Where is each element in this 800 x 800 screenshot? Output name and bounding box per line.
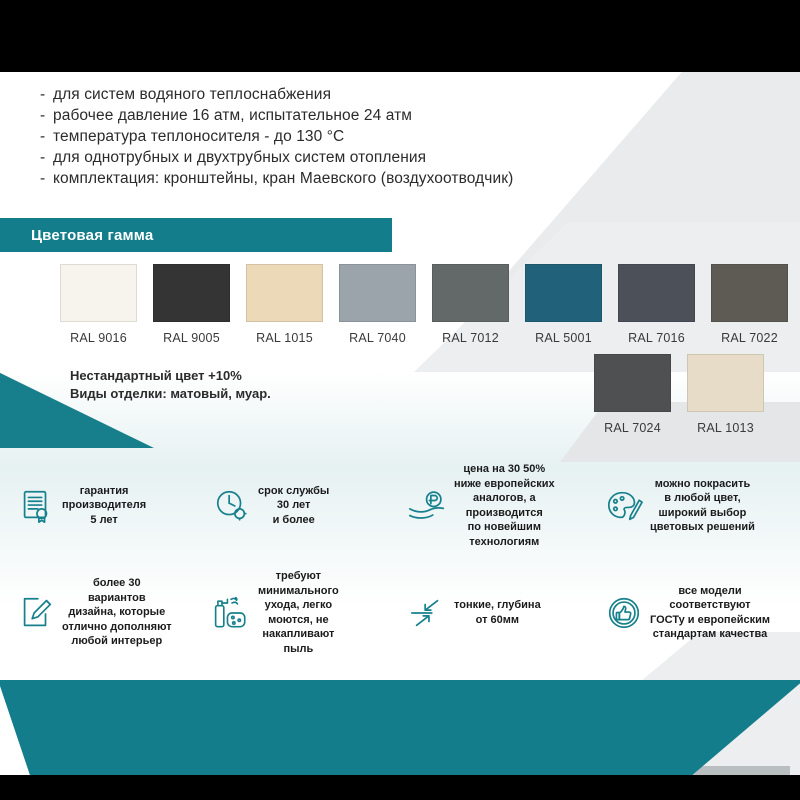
note-line-finish-types: Виды отделки: матовый, муар. xyxy=(70,385,271,403)
swatch-row-secondary: RAL 7024RAL 1013 xyxy=(594,354,764,435)
swatch-row-primary: RAL 9016RAL 9005RAL 1015RAL 7040RAL 7012… xyxy=(60,264,788,345)
spec-bullet-list: -для систем водяного теплоснабжения-рабо… xyxy=(40,84,640,189)
color-swatch[interactable]: RAL 9016 xyxy=(60,264,137,345)
slide-canvas: -для систем водяного теплоснабжения-рабо… xyxy=(0,72,800,775)
feature-text-line: производится xyxy=(454,506,555,521)
color-swatch-label: RAL 7024 xyxy=(594,421,671,435)
color-swatch-chip[interactable] xyxy=(711,264,788,322)
spec-bullet-item: -для систем водяного теплоснабжения xyxy=(40,84,640,105)
color-swatch-label: RAL 7022 xyxy=(711,331,788,345)
color-swatch-chip[interactable] xyxy=(687,354,764,412)
feature-text-line: 30 лет xyxy=(258,498,329,513)
feature-text: все моделисоответствуютГОСТу и европейск… xyxy=(646,584,770,642)
color-swatch-chip[interactable] xyxy=(153,264,230,322)
feature-text-line: по новейшим xyxy=(454,520,555,535)
feature-text-line: 5 лет xyxy=(62,513,146,528)
color-swatch[interactable]: RAL 7016 xyxy=(618,264,695,345)
color-range-banner: Цветовая гамма xyxy=(0,218,392,252)
certificate-icon xyxy=(14,484,58,528)
feature-text: можно покраситьв любой цвет,широкий выбо… xyxy=(646,477,755,535)
feature-text-line: технологиям xyxy=(454,535,555,550)
spec-bullet-text: комплектация: кронштейны, кран Маевского… xyxy=(53,168,513,189)
pencil-design-icon xyxy=(14,591,58,635)
color-swatch[interactable]: RAL 1015 xyxy=(246,264,323,345)
feature-text-line: моются, не xyxy=(258,613,339,628)
color-swatch-chip[interactable] xyxy=(339,264,416,322)
feature-text: цена на 30 50%ниже европейскиханалогов, … xyxy=(450,462,555,549)
color-swatch-label: RAL 1013 xyxy=(687,421,764,435)
feature-item: срок службы30 лети более xyxy=(210,462,406,549)
color-swatch-chip[interactable] xyxy=(618,264,695,322)
feature-text-line: отлично дополняют xyxy=(62,620,172,635)
feature-text-line: срок службы xyxy=(258,484,329,499)
feature-text-line: минимального xyxy=(258,584,339,599)
feature-text: гарантияпроизводителя5 лет xyxy=(58,484,146,528)
feature-text-line: накапливают xyxy=(258,627,339,642)
color-swatch[interactable]: RAL 7040 xyxy=(339,264,416,345)
banner-title: Цветовая гамма xyxy=(31,227,153,244)
feature-item: более 30вариантовдизайна, которыеотлично… xyxy=(14,569,210,656)
feature-text-line: производителя xyxy=(62,498,146,513)
feature-text-line: любой интерьер xyxy=(62,634,172,649)
feature-text-line: тонкие, глубина xyxy=(454,598,541,613)
spec-bullet-text: для однотрубных и двухтрубных систем ото… xyxy=(53,147,426,168)
spec-bullet-text: температура теплоносителя - до 130 °C xyxy=(53,126,344,147)
color-swatch-label: RAL 1015 xyxy=(246,331,323,345)
spec-bullet-item: -комплектация: кронштейны, кран Маевског… xyxy=(40,168,640,189)
feature-item: тонкие, глубинаот 60мм xyxy=(406,569,602,656)
feature-text-line: требуют xyxy=(258,569,339,584)
feature-text: требуютминимальногоухода, легкомоются, н… xyxy=(254,569,339,656)
feature-text-line: от 60мм xyxy=(454,613,541,628)
color-swatch[interactable]: RAL 1013 xyxy=(687,354,764,435)
spec-bullet-text: для систем водяного теплоснабжения xyxy=(53,84,331,105)
depth-arrows-icon xyxy=(406,591,450,635)
color-swatch-chip[interactable] xyxy=(525,264,602,322)
feature-text: срок службы30 лети более xyxy=(254,484,329,528)
color-swatch-chip[interactable] xyxy=(594,354,671,412)
thumbs-up-badge-icon xyxy=(602,591,646,635)
spec-bullet-text: рабочее давление 16 атм, испытательное 2… xyxy=(53,105,412,126)
features-row-1: гарантияпроизводителя5 летсрок службы30 … xyxy=(14,462,800,549)
feature-text-line: все модели xyxy=(650,584,770,599)
feature-text: более 30вариантовдизайна, которыеотлично… xyxy=(58,576,172,649)
spray-sponge-icon xyxy=(210,591,254,635)
feature-text-line: ниже европейских xyxy=(454,477,555,492)
feature-item: требуютминимальногоухода, легкомоются, н… xyxy=(210,569,406,656)
feature-text-line: гарантия xyxy=(62,484,146,499)
spec-bullet-item: -рабочее давление 16 атм, испытательное … xyxy=(40,105,640,126)
bullet-dash-icon: - xyxy=(40,84,53,105)
feature-text-line: вариантов xyxy=(62,591,172,606)
feature-text-line: в любой цвет, xyxy=(650,491,755,506)
feature-item: гарантияпроизводителя5 лет xyxy=(14,462,210,549)
feature-text-line: стандартам качества xyxy=(650,627,770,642)
letterbox-bottom xyxy=(0,775,800,800)
spec-bullet-item: -для однотрубных и двухтрубных систем от… xyxy=(40,147,640,168)
letterbox-top xyxy=(0,0,800,72)
features-section: гарантияпроизводителя5 летсрок службы30 … xyxy=(0,462,800,656)
color-swatch-label: RAL 9005 xyxy=(153,331,230,345)
color-swatch-label: RAL 7040 xyxy=(339,331,416,345)
spec-bullet-item: -температура теплоносителя - до 130 °C xyxy=(40,126,640,147)
note-line-custom-color: Нестандартный цвет +10% xyxy=(70,367,271,385)
feature-text-line: можно покрасить xyxy=(650,477,755,492)
color-swatch[interactable]: RAL 7024 xyxy=(594,354,671,435)
feature-text-line: широкий выбор xyxy=(650,506,755,521)
feature-text-line: цветовых решений xyxy=(650,520,755,535)
bullet-dash-icon: - xyxy=(40,168,53,189)
color-note: Нестандартный цвет +10% Виды отделки: ма… xyxy=(70,367,271,403)
palette-icon xyxy=(602,484,646,528)
bullet-dash-icon: - xyxy=(40,105,53,126)
feature-text-line: ухода, легко xyxy=(258,598,339,613)
feature-text-line: ГОСТу и европейским xyxy=(650,613,770,628)
color-swatch[interactable]: RAL 5001 xyxy=(525,264,602,345)
bullet-dash-icon: - xyxy=(40,147,53,168)
clock-gear-icon xyxy=(210,484,254,528)
color-swatch-label: RAL 7016 xyxy=(618,331,695,345)
color-swatch-chip[interactable] xyxy=(60,264,137,322)
feature-text-line: более 30 xyxy=(62,576,172,591)
feature-text-line: цена на 30 50% xyxy=(454,462,555,477)
color-swatch-label: RAL 7012 xyxy=(432,331,509,345)
color-swatch[interactable]: RAL 9005 xyxy=(153,264,230,345)
feature-item: можно покраситьв любой цвет,широкий выбо… xyxy=(602,462,798,549)
features-row-2: более 30вариантовдизайна, которыеотлично… xyxy=(14,569,800,656)
color-swatch-chip[interactable] xyxy=(432,264,509,322)
feature-text: тонкие, глубинаот 60мм xyxy=(450,598,541,627)
feature-text-line: пыль xyxy=(258,642,339,657)
feature-item: все моделисоответствуютГОСТу и европейск… xyxy=(602,569,798,656)
color-swatch[interactable]: RAL 7022 xyxy=(711,264,788,345)
feature-text-line: и более xyxy=(258,513,329,528)
feature-text-line: аналогов, а xyxy=(454,491,555,506)
color-swatch[interactable]: RAL 7012 xyxy=(432,264,509,345)
feature-text-line: соответствуют xyxy=(650,598,770,613)
color-swatch-chip[interactable] xyxy=(246,264,323,322)
bullet-dash-icon: - xyxy=(40,126,53,147)
color-swatch-label: RAL 9016 xyxy=(60,331,137,345)
feature-text-line: дизайна, которые xyxy=(62,605,172,620)
color-swatch-label: RAL 5001 xyxy=(525,331,602,345)
decor-teal-bottom-band xyxy=(0,680,800,775)
hand-ruble-icon xyxy=(406,484,450,528)
feature-item: цена на 30 50%ниже европейскиханалогов, … xyxy=(406,462,602,549)
